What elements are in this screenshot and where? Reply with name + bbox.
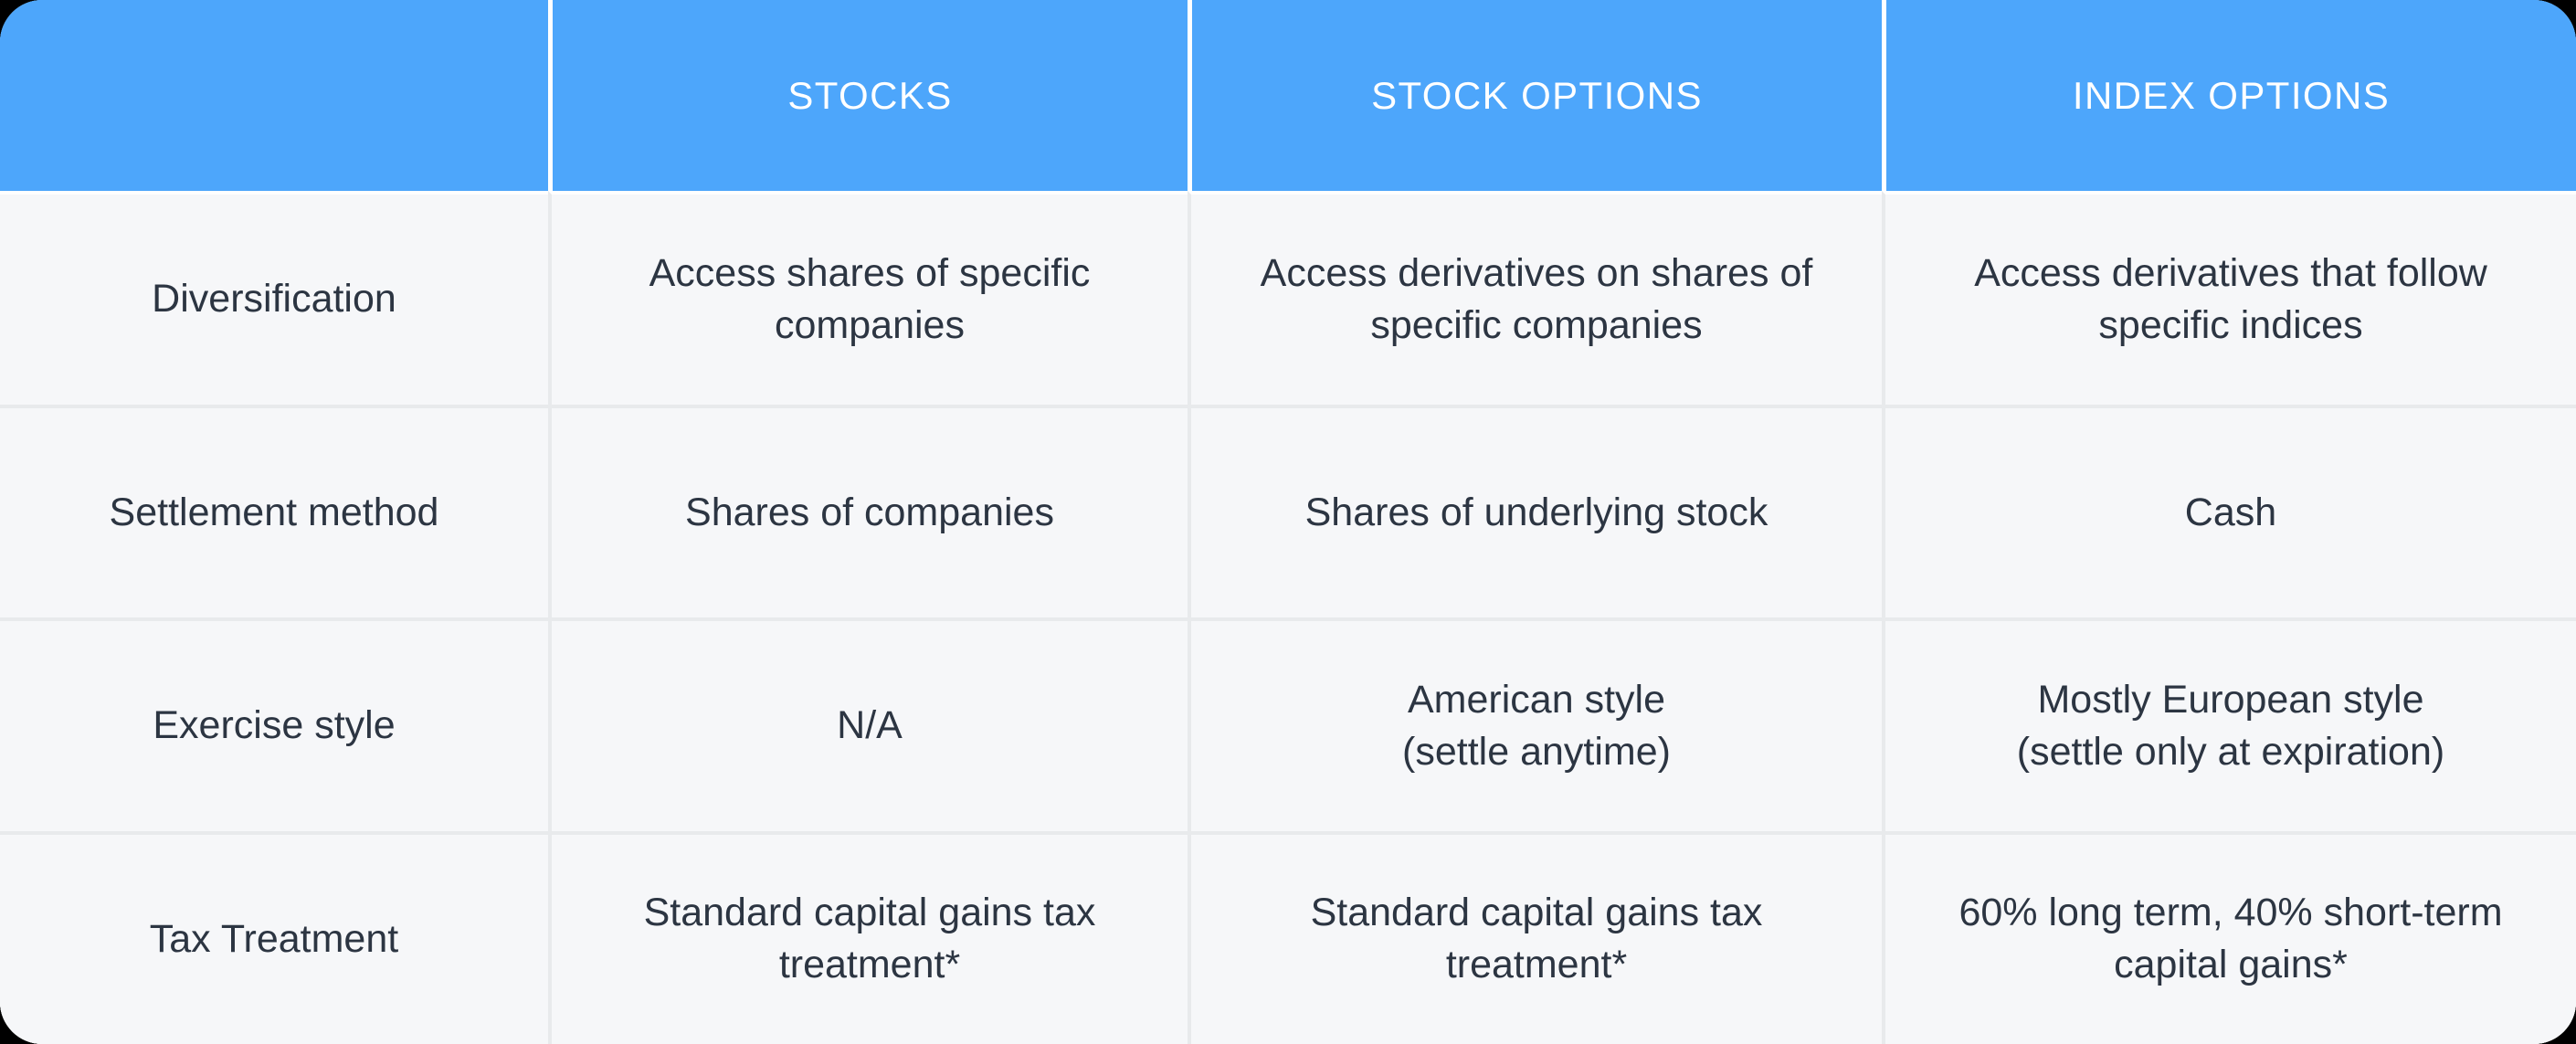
column-header-blank — [0, 0, 548, 191]
table-cell-text: Cash — [2185, 487, 2276, 539]
table-cell-text: N/A — [837, 700, 903, 752]
table-cell: 60% long term, 40% short-term capital ga… — [1882, 831, 2576, 1044]
table-cell: Standard capital gains tax treatment* — [548, 831, 1188, 1044]
table-body: Diversification Access shares of specifi… — [0, 191, 2576, 1044]
row-label-cell: Settlement method — [0, 405, 548, 618]
table-cell: American style (settle anytime) — [1188, 617, 1882, 831]
table-cell-text: Standard capital gains tax treatment* — [575, 887, 1164, 991]
table-cell: Mostly European style (settle only at ex… — [1882, 617, 2576, 831]
table-cell: N/A — [548, 617, 1188, 831]
table-row: Exercise style N/A American style (settl… — [0, 617, 2576, 831]
row-label-text: Tax Treatment — [150, 913, 398, 965]
table-cell: Access derivatives that follow specific … — [1882, 191, 2576, 405]
table-cell-text: Shares of underlying stock — [1305, 487, 1768, 539]
row-label-text: Diversification — [152, 273, 396, 325]
table-cell: Cash — [1882, 405, 2576, 618]
table-cell: Shares of companies — [548, 405, 1188, 618]
table-cell: Shares of underlying stock — [1188, 405, 1882, 618]
row-label-cell: Diversification — [0, 191, 548, 405]
table-cell-text: Shares of companies — [685, 487, 1054, 539]
table-cell-text: 60% long term, 40% short-term capital ga… — [1909, 887, 2552, 991]
table-cell-text: Access derivatives that follow specific … — [1909, 248, 2552, 352]
table-row: Diversification Access shares of specifi… — [0, 191, 2576, 405]
row-label-text: Settlement method — [110, 487, 439, 539]
table-header-row: STOCKS STOCK OPTIONS INDEX OPTIONS — [0, 0, 2576, 191]
table-cell-text: American style (settle anytime) — [1402, 674, 1671, 778]
table-cell-text: Mostly European style (settle only at ex… — [2017, 674, 2444, 778]
table-row: Tax Treatment Standard capital gains tax… — [0, 831, 2576, 1044]
row-label-cell: Exercise style — [0, 617, 548, 831]
column-header-stock-options: STOCK OPTIONS — [1188, 0, 1882, 191]
table-cell-text: Standard capital gains tax treatment* — [1215, 887, 1858, 991]
column-header-stocks: STOCKS — [548, 0, 1188, 191]
column-header-index-options: INDEX OPTIONS — [1882, 0, 2576, 191]
table-cell: Access derivatives on shares of specific… — [1188, 191, 1882, 405]
table-cell: Standard capital gains tax treatment* — [1188, 831, 1882, 1044]
table-cell-text: Access shares of specific companies — [575, 248, 1164, 352]
row-label-cell: Tax Treatment — [0, 831, 548, 1044]
row-label-text: Exercise style — [153, 700, 395, 752]
table-cell: Access shares of specific companies — [548, 191, 1188, 405]
table-cell-text: Access derivatives on shares of specific… — [1215, 248, 1858, 352]
table-row: Settlement method Shares of companies Sh… — [0, 405, 2576, 618]
comparison-table: STOCKS STOCK OPTIONS INDEX OPTIONS Diver… — [0, 0, 2576, 1044]
